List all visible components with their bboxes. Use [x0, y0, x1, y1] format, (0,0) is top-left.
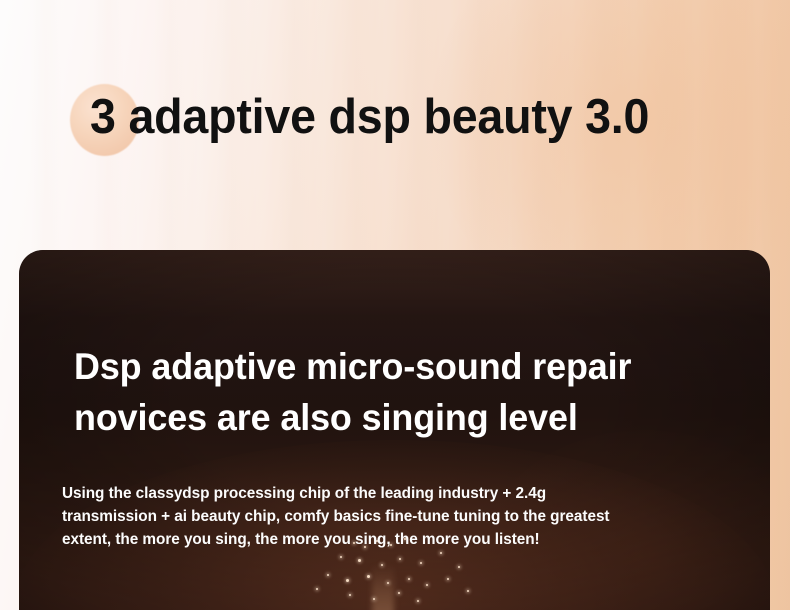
- card-title-line-1: Dsp adaptive micro-sound repair: [74, 341, 714, 392]
- banner-header: 3 adaptive dsp beauty 3.0: [0, 0, 790, 250]
- card-description-line-3: extent, the more you sing, the more you …: [62, 528, 727, 551]
- card-description-line-2: transmission + ai beauty chip, comfy bas…: [62, 505, 727, 528]
- card-description-line-1: Using the classydsp processing chip of t…: [62, 482, 727, 505]
- card-title-line-2: novices are also singing level: [74, 392, 714, 443]
- card-description: Using the classydsp processing chip of t…: [62, 482, 727, 551]
- product-feature-banner: 3 adaptive dsp beauty 3.0: [0, 0, 790, 610]
- card-title: Dsp adaptive micro-sound repair novices …: [74, 341, 714, 443]
- page-title: 3 adaptive dsp beauty 3.0: [90, 86, 649, 148]
- sparkle-beam: [372, 564, 394, 610]
